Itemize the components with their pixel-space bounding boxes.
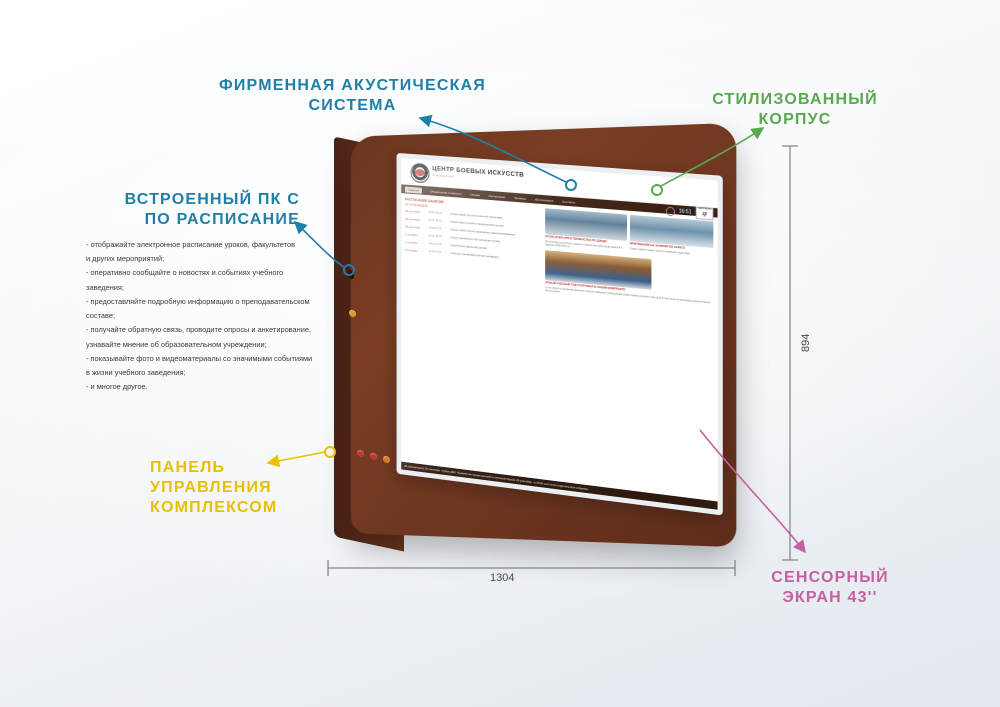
callout-label-acoustic: ФИРМЕННАЯ АКУСТИЧЕСКАЯ СИСТЕМА bbox=[215, 76, 490, 116]
schedule-text: секция дзюдо (группа начальной подготовк… bbox=[450, 213, 502, 221]
site-logo-icon bbox=[411, 163, 430, 184]
nav-item-1[interactable]: Объявления и новости bbox=[430, 189, 461, 195]
schedule-time: 11:00-13:00 bbox=[428, 250, 447, 255]
site-subtitle: спортивный клуб bbox=[432, 173, 454, 179]
clock-value: 16:51 bbox=[677, 208, 694, 215]
calendar-widget: СЕНТЯБРЬ 28 ПН bbox=[696, 207, 714, 221]
schedule-text: секция самбо (группа спортивного соверше… bbox=[450, 228, 515, 237]
callout-label-touch: СЕНСОРНЫЙ ЭКРАН 43'' bbox=[740, 568, 920, 608]
news-card[interactable]: ИТОГИ ОТКРЫТОГО ПЕРВЕНСТВА ПО ДЗЮДО 28 с… bbox=[545, 208, 626, 253]
schedule-time: 19:00-20:30 bbox=[428, 242, 447, 247]
schedule-time: 16:30-18:00 bbox=[428, 234, 447, 239]
site-body: РАСПИСАНИЕ ЗАНЯТИЙ НА ЭТОЙ НЕДЕЛЕ 28 сен… bbox=[401, 193, 717, 498]
nav-item-0[interactable]: Главная bbox=[405, 186, 422, 193]
schedule-date: 1 октября bbox=[405, 232, 426, 238]
touch-screen-bezel: ЦЕНТР БОЕВЫХ ИСКУССТВ спортивный клуб Гл… bbox=[397, 153, 723, 516]
schedule-time: 17:00-18:30 bbox=[428, 219, 447, 223]
schedule-time: 18:00-19:30 bbox=[428, 211, 447, 215]
sensor-slot-icon bbox=[348, 269, 354, 279]
description-line: и других мероприятий; bbox=[86, 252, 336, 266]
description-line: - получайте обратную связь, проводите оп… bbox=[86, 323, 336, 337]
description-line: в жизни учебного заведения; bbox=[86, 366, 336, 380]
description-line: заведения; bbox=[86, 281, 336, 295]
schedule-text: секция каратэ (учебно-тренировочная груп… bbox=[450, 220, 503, 228]
calendar-dow: ПН bbox=[698, 215, 711, 219]
schedule-time: 18:00-20:00 bbox=[428, 226, 447, 231]
callout-label-pc: ВСТРОЕННЫЙ ПК С ПО РАСПИСАНИЕ bbox=[100, 190, 300, 230]
feature-description-list: - отображайте электронное расписание уро… bbox=[86, 238, 336, 394]
description-line: - и многое другое. bbox=[86, 380, 336, 394]
news-column: ИТОГИ ОТКРЫТОГО ПЕРВЕНСТВА ПО ДЗЮДО 28 с… bbox=[543, 204, 717, 498]
description-line: составе; bbox=[86, 309, 336, 323]
news-card[interactable]: ПРИГЛАШАЕМ НА ЗАНЯТИЯ ПО КАРАТЭ Открыт н… bbox=[630, 215, 714, 261]
touch-screen[interactable]: ЦЕНТР БОЕВЫХ ИСКУССТВ спортивный клуб Гл… bbox=[401, 158, 717, 510]
callout-label-corpus: СТИЛИЗОВАННЫЙ КОРПУС bbox=[700, 90, 890, 130]
nav-item-4[interactable]: Тренеры bbox=[514, 195, 526, 200]
schedule-text: секция бокса (взрослая группа) bbox=[450, 244, 486, 251]
schedule-text: секция рукопашного боя (младшая группа) bbox=[450, 236, 500, 244]
kiosk-illustration: ЦЕНТР БОЕВЫХ ИСКУССТВ спортивный клуб Гл… bbox=[320, 120, 740, 550]
search-icon[interactable] bbox=[665, 206, 674, 216]
description-line: - оперативно сообщайте о новостях и собы… bbox=[86, 266, 336, 280]
schedule-date: 2 октября bbox=[405, 240, 426, 246]
dimension-label-height: 894 bbox=[800, 334, 812, 352]
description-line: - отображайте электронное расписание уро… bbox=[86, 238, 336, 252]
featured-news-card[interactable]: НОВЫЙ УЧЕБНЫЙ ГОД СТАРТОВАЛ В НАШЕМ КОМП… bbox=[545, 251, 713, 309]
description-line: узнавайте мнение об образовательном учре… bbox=[86, 338, 336, 352]
schedule-text: открытая тренировка для всех желающих bbox=[450, 252, 498, 260]
nav-item-3[interactable]: Расписание bbox=[489, 193, 506, 198]
nav-item-5[interactable]: Фотогалерея bbox=[535, 197, 553, 202]
callout-label-panel: ПАНЕЛЬ УПРАВЛЕНИЯ КОМПЛЕКСОМ bbox=[150, 458, 290, 518]
website-content: ЦЕНТР БОЕВЫХ ИСКУССТВ спортивный клуб Гл… bbox=[401, 158, 717, 510]
schedule-date: 29 сентября bbox=[405, 217, 426, 223]
nav-item-2[interactable]: Секции bbox=[470, 192, 480, 197]
dimension-label-width: 1304 bbox=[490, 572, 514, 584]
schedule-column: РАСПИСАНИЕ ЗАНЯТИЙ НА ЭТОЙ НЕДЕЛЕ 28 сен… bbox=[401, 193, 543, 476]
schedule-date: 30 сентября bbox=[405, 225, 426, 231]
schedule-date: 3 октября bbox=[405, 248, 426, 254]
description-line: - предоставляйте подробную информацию о … bbox=[86, 295, 336, 309]
nav-item-6[interactable]: Контакты bbox=[562, 199, 575, 204]
description-line: - показывайте фото и видеоматериалы со з… bbox=[86, 352, 336, 366]
schedule-date: 28 сентября bbox=[405, 209, 426, 215]
